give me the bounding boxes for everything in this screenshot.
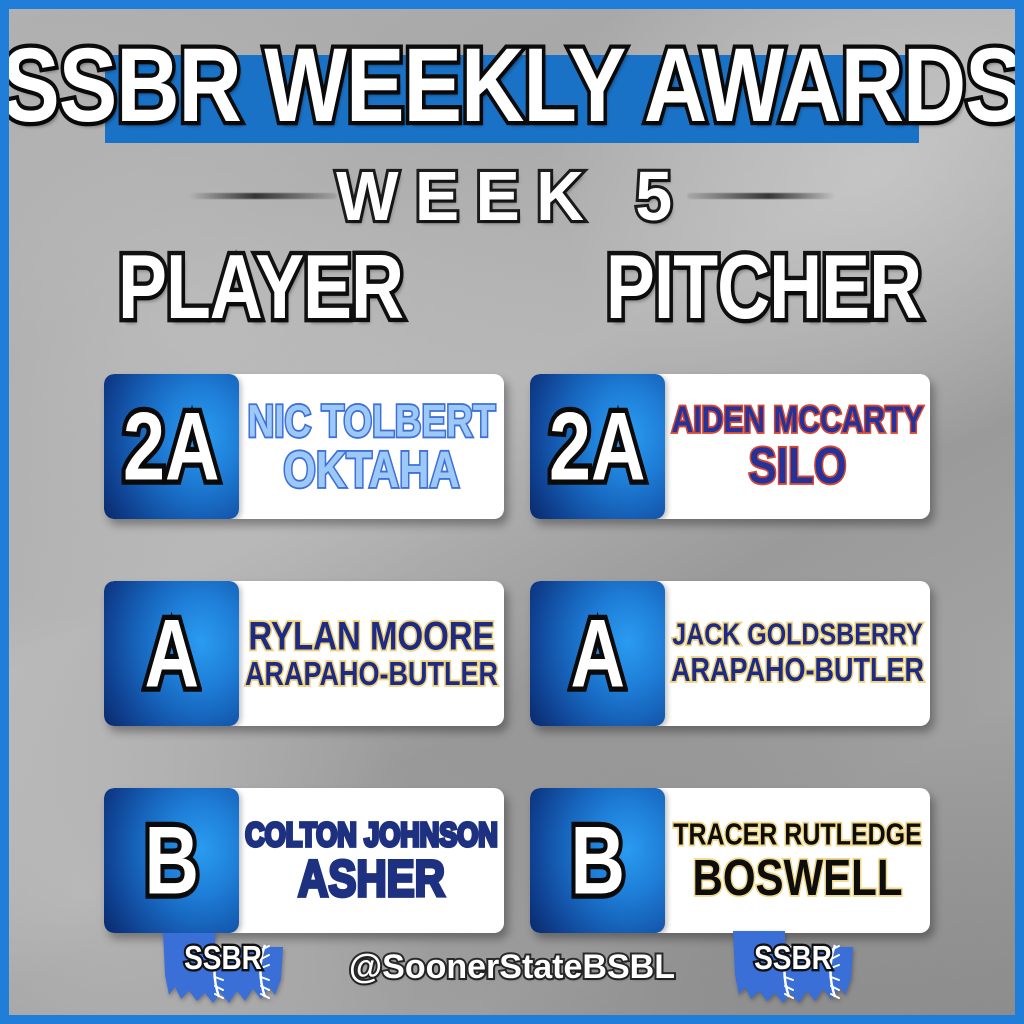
class-badge-label: A <box>144 602 199 706</box>
column-header-player: PLAYER <box>4 234 517 342</box>
award-row: 2A NIC TOLBERT OKTAHA 2A AIDEN MCCARTY S… <box>104 374 930 519</box>
class-badge: 2A <box>104 374 239 519</box>
award-card-body: RYLAN MOORE ARAPAHO-BUTLER <box>239 581 504 726</box>
week-label: WEEK 5 <box>336 152 688 240</box>
award-row: A RYLAN MOORE ARAPAHO-BUTLER A JACK GOLD… <box>104 581 930 726</box>
class-badge: B <box>104 788 239 933</box>
column-headers: PLAYER PITCHER <box>9 245 1015 331</box>
awards-poster: SSBR WEEKLY AWARDS WEEK 5 PLAYER PITCHER… <box>0 0 1024 1024</box>
award-player-name: COLTON JOHNSON <box>245 819 498 852</box>
column-header-pitcher: PITCHER <box>507 234 1020 342</box>
award-pitcher-school: BOSWELL <box>693 852 903 903</box>
class-badge: A <box>530 581 665 726</box>
awards-grid: 2A NIC TOLBERT OKTAHA 2A AIDEN MCCARTY S… <box>104 374 930 995</box>
class-badge-label: A <box>570 602 625 706</box>
award-player-school: ASHER <box>298 853 445 904</box>
award-pitcher-school: SILO <box>748 440 846 491</box>
ssbr-logo-right-label: SSBR <box>727 940 859 976</box>
award-pitcher-name: TRACER RUTLEDGE <box>673 820 922 851</box>
award-player-name: NIC TOLBERT <box>247 398 495 443</box>
award-card-body: JACK GOLDSBERRY ARAPAHO-BUTLER <box>665 581 930 726</box>
award-pitcher-school: ARAPAHO-BUTLER <box>671 654 924 687</box>
award-card-body: AIDEN MCCARTY SILO <box>665 374 930 519</box>
award-card-pitcher-a[interactable]: A JACK GOLDSBERRY ARAPAHO-BUTLER <box>530 581 930 726</box>
ssbr-logo-right[interactable]: SSBR <box>727 917 859 1009</box>
week-row: WEEK 5 <box>9 161 1015 231</box>
class-badge-label: 2A <box>549 395 646 499</box>
award-card-player-a[interactable]: A RYLAN MOORE ARAPAHO-BUTLER <box>104 581 504 726</box>
class-badge: A <box>104 581 239 726</box>
week-rule-left-icon <box>189 193 337 199</box>
award-card-player-2a[interactable]: 2A NIC TOLBERT OKTAHA <box>104 374 504 519</box>
week-rule-right-icon <box>687 193 835 199</box>
page-title: SSBR WEEKLY AWARDS <box>0 27 1024 144</box>
class-badge: B <box>530 788 665 933</box>
award-pitcher-name: JACK GOLDSBERRY <box>672 620 923 651</box>
award-pitcher-name: AIDEN MCCARTY <box>672 403 924 440</box>
award-card-body: NIC TOLBERT OKTAHA <box>239 374 504 519</box>
class-badge: 2A <box>530 374 665 519</box>
class-badge-label: 2A <box>123 395 220 499</box>
social-handle[interactable]: @SoonerStateBSBL <box>9 947 1015 987</box>
class-badge-label: B <box>144 809 199 913</box>
class-badge-label: B <box>570 809 625 913</box>
award-card-pitcher-2a[interactable]: 2A AIDEN MCCARTY SILO <box>530 374 930 519</box>
award-player-name: RYLAN MOORE <box>248 615 494 655</box>
award-player-school: OKTAHA <box>283 444 460 495</box>
award-player-school: ARAPAHO-BUTLER <box>245 658 498 691</box>
